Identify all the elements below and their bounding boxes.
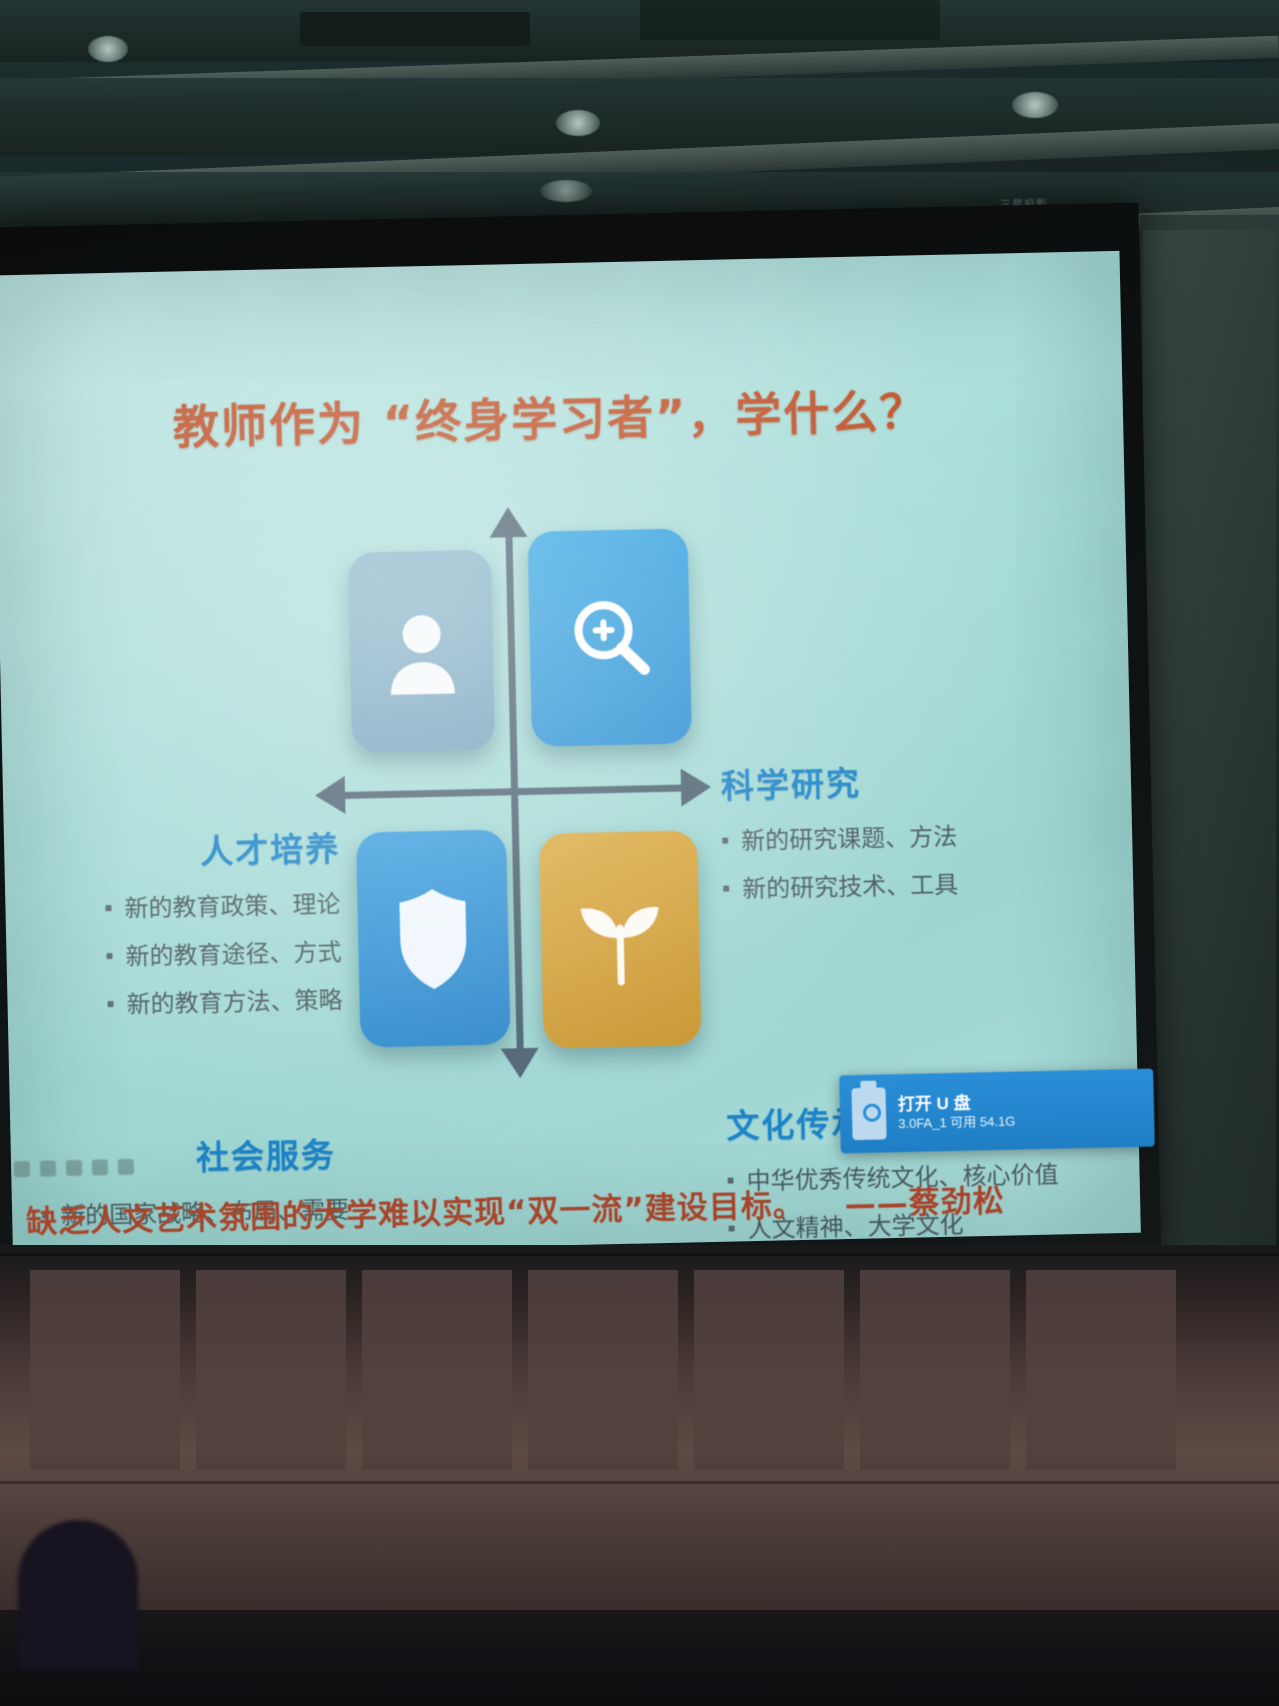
lecture-room-photo: 三星投影 教师作为 “终身学习者”，学什么？ bbox=[0, 0, 1279, 1706]
quadrant-heading: 社会服务 bbox=[195, 1128, 348, 1179]
ceiling-light bbox=[1012, 92, 1058, 118]
quadrant-heading: 科学研究 bbox=[720, 755, 956, 808]
usb-drive-icon bbox=[851, 1087, 886, 1140]
usb-toast-title: 打开 U 盘 bbox=[898, 1091, 1016, 1116]
ceiling-light bbox=[88, 36, 128, 62]
taskbar-icon bbox=[118, 1159, 134, 1175]
ceiling-vent bbox=[300, 12, 530, 46]
arrow-right-icon bbox=[681, 768, 712, 807]
usb-toast-text: 打开 U 盘 3.0FA_1 可用 54.1G bbox=[898, 1091, 1016, 1133]
quadrant-bullet-list: 新的教育政策、理论 新的教育途径、方式 新的教育方法、策略 bbox=[105, 884, 344, 1020]
sprout-icon bbox=[570, 892, 670, 986]
slide-taskbar-icons bbox=[14, 1159, 134, 1178]
bullet-icon bbox=[106, 953, 112, 959]
quadrant-talent-cultivation: 人才培养 新的教育政策、理论 新的教育途径、方式 新的教育方法、策略 bbox=[104, 822, 344, 1033]
wall-seam bbox=[0, 1481, 1279, 1484]
taskbar-icon bbox=[40, 1160, 56, 1176]
quadrant-heading: 人才培养 bbox=[200, 822, 341, 873]
list-item: 新的教育政策、理论 bbox=[105, 884, 342, 924]
bullet-icon bbox=[105, 905, 111, 911]
bullet-icon bbox=[108, 1001, 114, 1007]
right-wall-panel bbox=[1143, 230, 1276, 1260]
quadrant-bullet-list: 新的研究课题、方法 新的研究技术、工具 bbox=[722, 817, 959, 905]
magnifier-plus-icon bbox=[561, 589, 659, 687]
list-item: 新的研究课题、方法 bbox=[722, 817, 958, 857]
wall-panel bbox=[30, 1270, 180, 1470]
usb-toast-notification[interactable]: 打开 U 盘 3.0FA_1 可用 54.1G bbox=[839, 1069, 1155, 1154]
ceiling-light bbox=[556, 110, 600, 136]
list-item: 新的研究技术、工具 bbox=[723, 865, 959, 905]
taskbar-icon bbox=[92, 1159, 108, 1175]
taskbar-icon bbox=[66, 1160, 82, 1176]
person-icon-tile bbox=[348, 550, 495, 753]
wall-panel bbox=[196, 1270, 346, 1470]
shield-icon-tile bbox=[356, 829, 511, 1047]
arrow-left-icon bbox=[315, 776, 346, 815]
list-item-text: 新的研究课题、方法 bbox=[741, 817, 958, 857]
arrow-up-icon bbox=[489, 507, 528, 538]
bullet-icon bbox=[723, 886, 729, 892]
shield-icon bbox=[393, 886, 473, 992]
bullet-icon bbox=[722, 838, 728, 844]
wall-panel bbox=[362, 1270, 512, 1470]
magnifier-icon-tile bbox=[527, 528, 692, 746]
ceiling-light bbox=[540, 180, 592, 202]
list-item: 新的教育途径、方式 bbox=[106, 932, 343, 972]
wall-panel bbox=[694, 1270, 844, 1470]
list-item-text: 新的教育政策、理论 bbox=[124, 884, 341, 924]
list-item: 新的教育方法、策略 bbox=[107, 980, 344, 1020]
list-item-text: 新的教育方法、策略 bbox=[126, 980, 343, 1020]
ceiling-vent bbox=[640, 0, 940, 40]
slide-title: 教师作为 “终身学习者”，学什么？ bbox=[172, 375, 933, 458]
quadrant-scientific-research: 科学研究 新的研究课题、方法 新的研究技术、工具 bbox=[720, 755, 958, 918]
list-item-text: 新的教育途径、方式 bbox=[125, 932, 342, 972]
wall-panel bbox=[528, 1270, 678, 1470]
arrow-down-icon bbox=[501, 1048, 540, 1079]
floor bbox=[0, 1610, 1279, 1706]
audience-head-silhouette bbox=[18, 1520, 138, 1670]
footer-quote-author: ——蔡劲松 bbox=[844, 1184, 1005, 1223]
person-icon bbox=[383, 607, 461, 695]
taskbar-icon bbox=[14, 1161, 30, 1177]
wall-seam bbox=[0, 1253, 1279, 1256]
list-item-text: 新的研究技术、工具 bbox=[742, 865, 959, 905]
usb-toast-subtitle: 3.0FA_1 可用 54.1G bbox=[898, 1113, 1015, 1132]
sprout-icon-tile bbox=[539, 830, 702, 1048]
wall-panel bbox=[1026, 1270, 1176, 1470]
wall-panel bbox=[860, 1270, 1010, 1470]
